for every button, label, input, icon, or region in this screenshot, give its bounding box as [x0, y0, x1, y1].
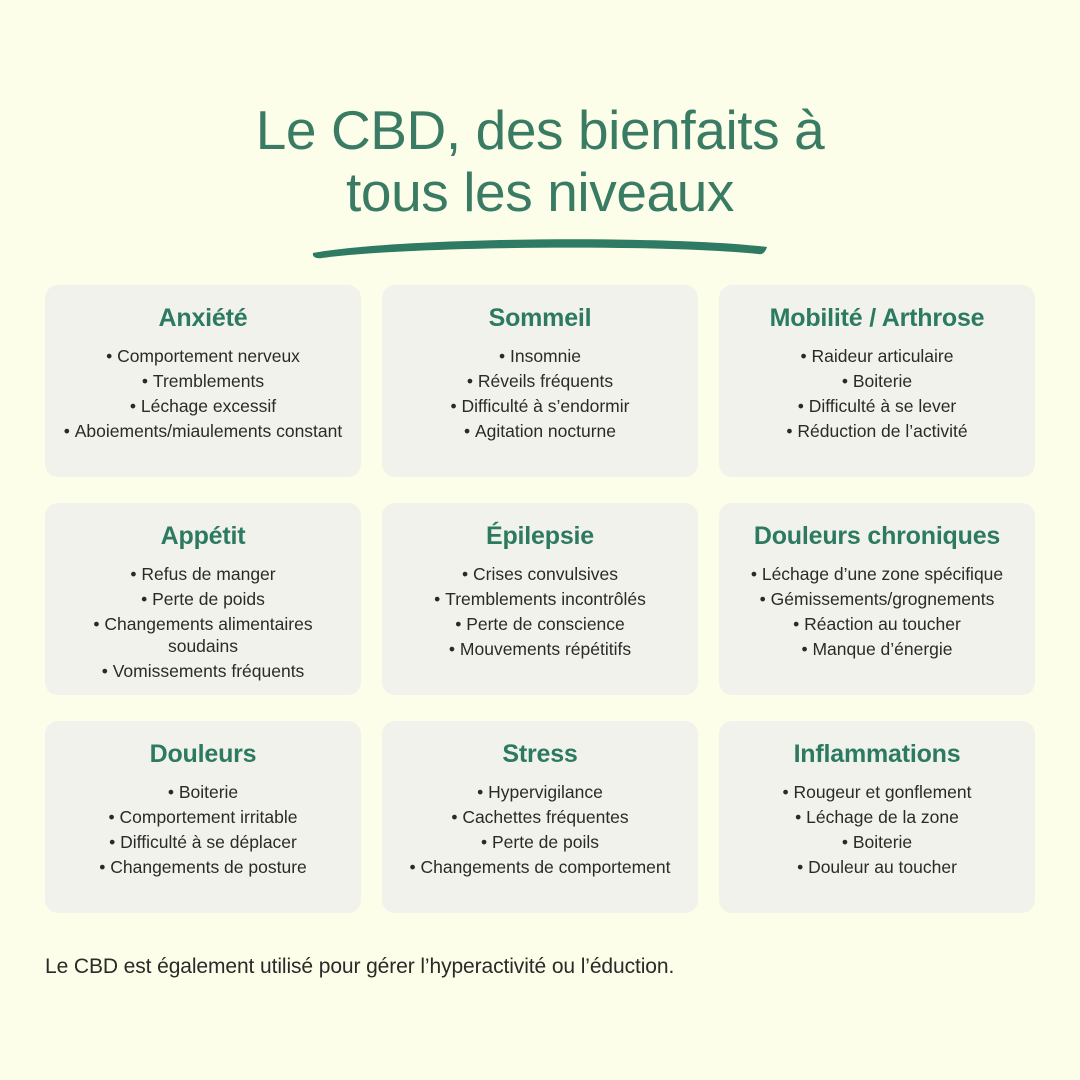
card-symptom-list: Refus de manger Perte de poids Changemen… [59, 563, 347, 683]
symptom-card-sommeil: Sommeil Insomnie Réveils fréquents Diffi… [382, 285, 698, 477]
list-item: Changements de posture [59, 856, 347, 879]
list-item: Changements alimentaires soudains [59, 613, 347, 658]
card-symptom-list: Hypervigilance Cachettes fréquentes Pert… [396, 781, 684, 879]
list-item: Difficulté à s’endormir [396, 395, 684, 418]
list-item: Boiterie [733, 370, 1021, 393]
list-item: Réduction de l’activité [733, 420, 1021, 443]
list-item: Tremblements incontrôlés [396, 588, 684, 611]
symptom-card-grid: Anxiété Comportement nerveux Tremblement… [45, 285, 1035, 913]
list-item: Réaction au toucher [733, 613, 1021, 636]
list-item: Léchage excessif [59, 395, 347, 418]
card-symptom-list: Crises convulsives Tremblements incontrô… [396, 563, 684, 661]
brush-underline-icon [310, 233, 770, 259]
list-item: Vomissements fréquents [59, 660, 347, 683]
list-item: Gémissements/grognements [733, 588, 1021, 611]
card-title: Douleurs [59, 741, 347, 769]
list-item: Difficulté à se lever [733, 395, 1021, 418]
list-item: Crises convulsives [396, 563, 684, 586]
symptom-card-douleurs-chroniques: Douleurs chroniques Léchage d’une zone s… [719, 503, 1035, 695]
infographic-poster: Le CBD, des bienfaits àtous les niveaux … [0, 0, 1080, 1080]
list-item: Perte de poils [396, 831, 684, 854]
footer-note: Le CBD est également utilisé pour gérer … [45, 953, 1035, 980]
card-title: Douleurs chroniques [733, 523, 1021, 551]
list-item: Tremblements [59, 370, 347, 393]
symptom-card-epilepsie: Épilepsie Crises convulsives Tremblement… [382, 503, 698, 695]
card-title: Inflammations [733, 741, 1021, 769]
card-title: Sommeil [396, 305, 684, 333]
page-title: Le CBD, des bienfaits àtous les niveaux [0, 100, 1080, 223]
list-item: Rougeur et gonflement [733, 781, 1021, 804]
list-item: Raideur articulaire [733, 345, 1021, 368]
card-title: Appétit [59, 523, 347, 551]
list-item: Comportement nerveux [59, 345, 347, 368]
list-item: Léchage d’une zone spécifique [733, 563, 1021, 586]
symptom-card-anxiete: Anxiété Comportement nerveux Tremblement… [45, 285, 361, 477]
list-item: Douleur au toucher [733, 856, 1021, 879]
page-header: Le CBD, des bienfaits àtous les niveaux [0, 100, 1080, 259]
card-title: Anxiété [59, 305, 347, 333]
card-symptom-list: Léchage d’une zone spécifique Gémissemen… [733, 563, 1021, 661]
list-item: Léchage de la zone [733, 806, 1021, 829]
list-item: Difficulté à se déplacer [59, 831, 347, 854]
list-item: Boiterie [733, 831, 1021, 854]
list-item: Aboiements/miaulements constant [59, 420, 347, 443]
list-item: Refus de manger [59, 563, 347, 586]
symptom-card-appetit: Appétit Refus de manger Perte de poids C… [45, 503, 361, 695]
list-item: Réveils fréquents [396, 370, 684, 393]
list-item: Hypervigilance [396, 781, 684, 804]
list-item: Changements de comportement [396, 856, 684, 879]
card-title: Épilepsie [396, 523, 684, 551]
symptom-card-mobilite-arthrose: Mobilité / Arthrose Raideur articulaire … [719, 285, 1035, 477]
symptom-card-inflammations: Inflammations Rougeur et gonflement Léch… [719, 721, 1035, 913]
card-symptom-list: Comportement nerveux Tremblements Léchag… [59, 345, 347, 443]
card-symptom-list: Insomnie Réveils fréquents Difficulté à … [396, 345, 684, 443]
list-item: Agitation nocturne [396, 420, 684, 443]
list-item: Insomnie [396, 345, 684, 368]
page-title-line-2: tous les niveaux [346, 161, 734, 223]
card-symptom-list: Boiterie Comportement irritable Difficul… [59, 781, 347, 879]
list-item: Comportement irritable [59, 806, 347, 829]
card-symptom-list: Rougeur et gonflement Léchage de la zone… [733, 781, 1021, 879]
list-item: Mouvements répétitifs [396, 638, 684, 661]
card-title: Stress [396, 741, 684, 769]
symptom-card-stress: Stress Hypervigilance Cachettes fréquent… [382, 721, 698, 913]
list-item: Boiterie [59, 781, 347, 804]
list-item: Perte de conscience [396, 613, 684, 636]
list-item: Perte de poids [59, 588, 347, 611]
card-title: Mobilité / Arthrose [733, 305, 1021, 333]
list-item: Cachettes fréquentes [396, 806, 684, 829]
page-title-line-1: Le CBD, des bienfaits à [256, 99, 825, 161]
card-symptom-list: Raideur articulaire Boiterie Difficulté … [733, 345, 1021, 443]
list-item: Manque d’énergie [733, 638, 1021, 661]
symptom-card-douleurs: Douleurs Boiterie Comportement irritable… [45, 721, 361, 913]
